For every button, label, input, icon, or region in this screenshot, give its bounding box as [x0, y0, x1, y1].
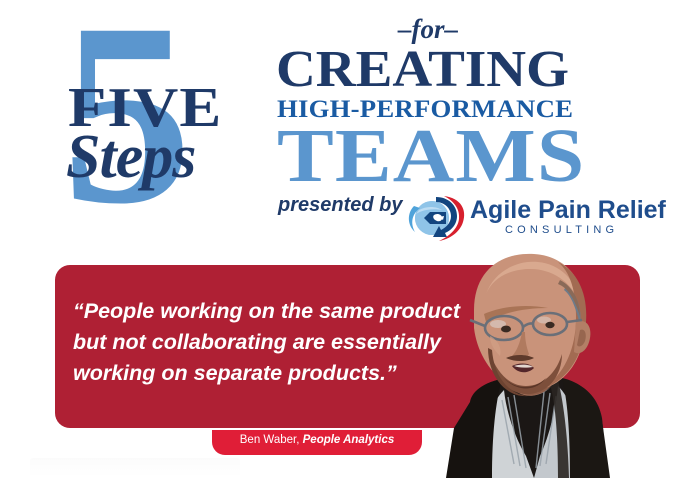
word-for: –for– — [398, 16, 458, 43]
apr-subline: CONSULTING — [505, 225, 618, 236]
attribution-name: Ben Waber, — [240, 434, 300, 446]
globe-swirl-arrow-icon — [406, 192, 468, 244]
bottom-bleed-strip — [30, 458, 240, 478]
word-creating: CREATING — [276, 44, 569, 96]
title-lockup: 5 FIVE Steps –for– CREATING HIGH-PERFORM… — [0, 0, 688, 252]
attribution-text: Ben Waber, People Analytics — [212, 435, 422, 447]
attribution-source: People Analytics — [303, 434, 395, 446]
attribution-bar: Ben Waber, People Analytics — [212, 430, 422, 455]
infographic-header-slide: 5 FIVE Steps –for– CREATING HIGH-PERFORM… — [0, 0, 688, 478]
apr-wordmark: Agile Pain Relief — [470, 198, 666, 223]
word-teams: TEAMS — [277, 118, 585, 194]
word-steps: Steps — [66, 126, 195, 188]
ben-waber-portrait — [430, 250, 645, 478]
presented-by-label: presented by — [278, 195, 402, 215]
